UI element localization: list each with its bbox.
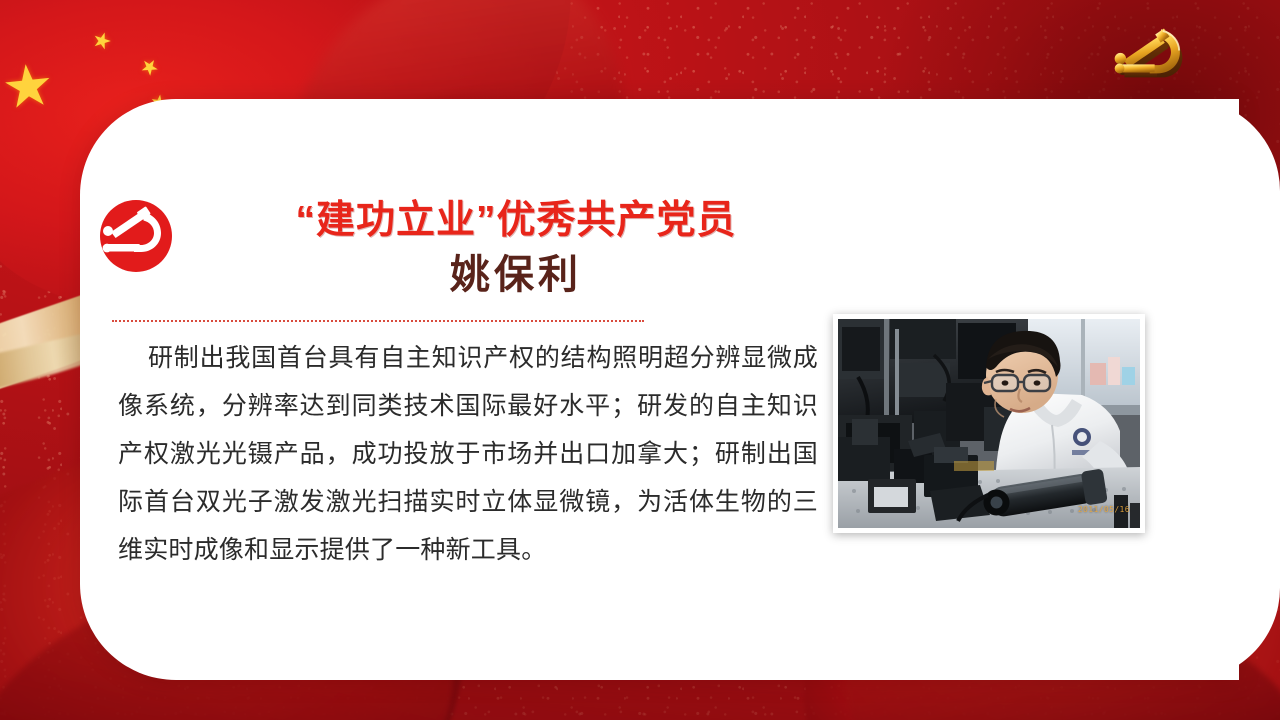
content-card-right-cap [1160,99,1280,680]
achievement-paragraph: 研制出我国首台具有自主知识产权的结构照明超分辨显微成像系统，分辨率达到同类技术国… [118,334,818,574]
page-title: “建功立业”优秀共产党员 [196,199,836,244]
title-block: “建功立业”优秀共产党员 姚保利 [196,199,836,298]
portrait-photo: 2011/05/16 [838,319,1140,528]
person-name: 姚保利 [196,252,836,298]
party-emblem-gold-icon [1112,26,1194,88]
photo-timestamp: 2011/05/16 [1078,505,1130,514]
party-emblem-hammer-sickle-icon [99,199,173,273]
slide-root: ★ ★ ★ ★ ★ [0,0,1280,720]
dotted-divider [112,320,644,322]
portrait-photo-frame: 2011/05/16 [833,314,1145,533]
flag-star-large: ★ [0,55,57,118]
